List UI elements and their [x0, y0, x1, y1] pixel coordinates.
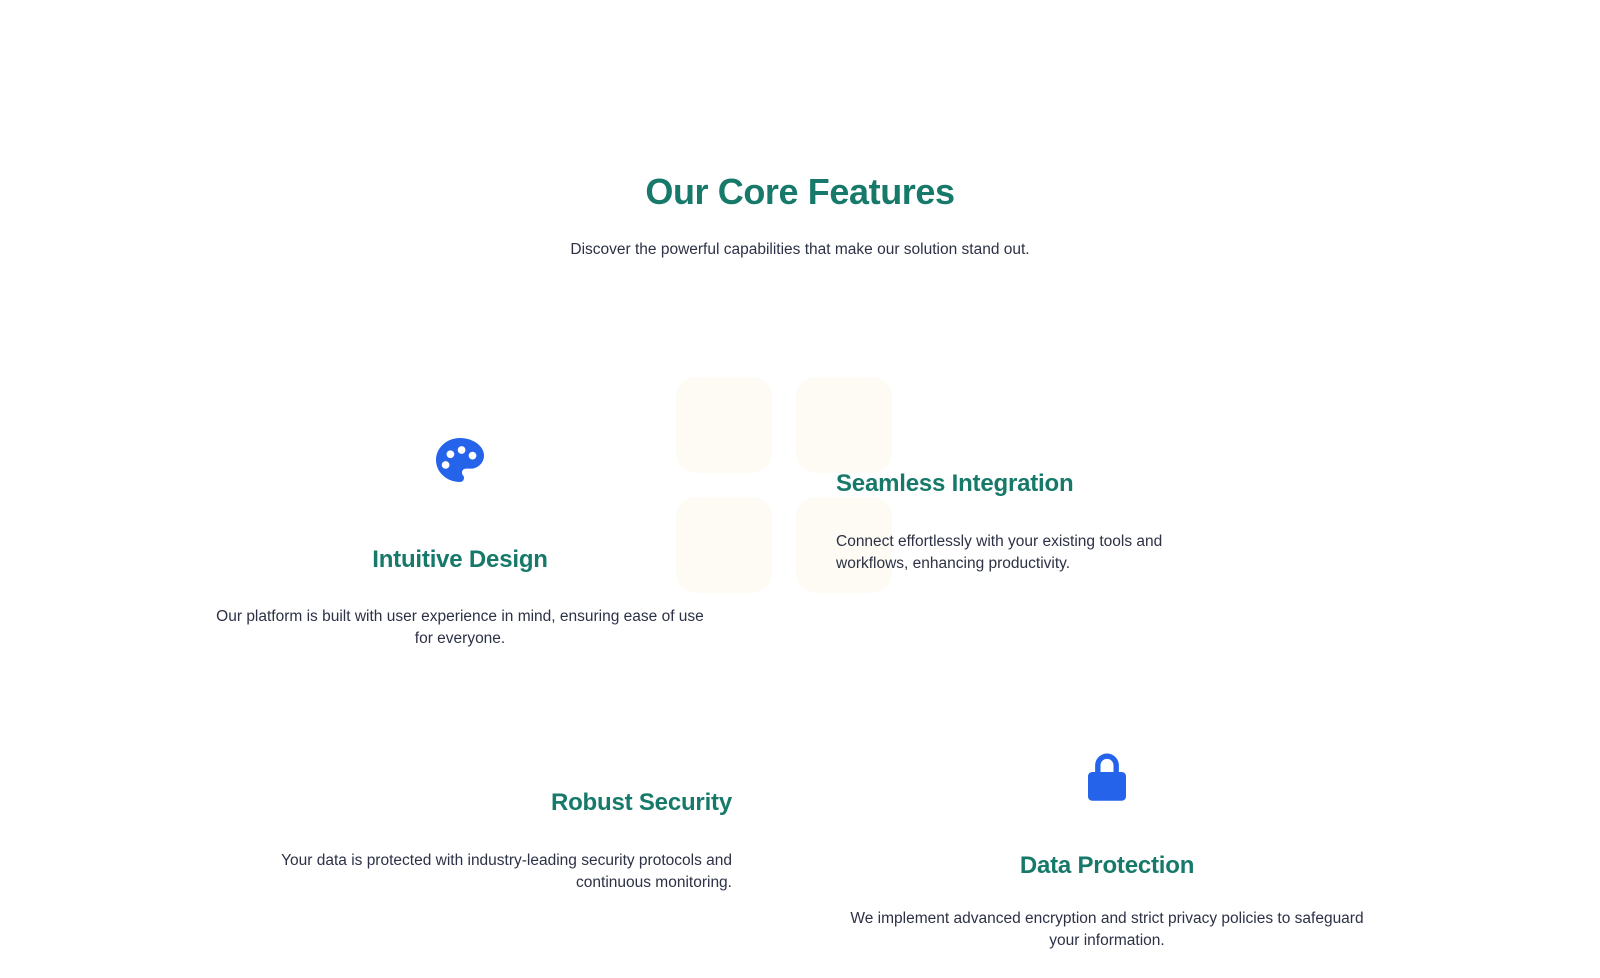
- feature-card-data-protection[interactable]: Data Protection We implement advanced en…: [847, 748, 1367, 952]
- feature-card-robust-security[interactable]: Robust Security Your data is protected w…: [232, 787, 732, 894]
- page-title: Our Core Features: [0, 168, 1600, 216]
- feature-card-description: We implement advanced encryption and str…: [847, 908, 1367, 952]
- feature-card-description: Connect effortlessly with your existing …: [836, 531, 1236, 575]
- palette-icon: [210, 430, 710, 494]
- feature-card-title: Data Protection: [847, 850, 1367, 882]
- feature-card-seamless-integration[interactable]: Seamless Integration Connect effortlessl…: [836, 468, 1236, 575]
- features-section-page: Our Core Features Discover the powerful …: [0, 0, 1600, 978]
- feature-card-description: Our platform is built with user experien…: [210, 606, 710, 650]
- lock-icon: [847, 748, 1367, 808]
- section-header: Our Core Features Discover the powerful …: [0, 0, 1600, 262]
- section-subtitle: Discover the powerful capabilities that …: [0, 238, 1600, 262]
- decorative-square: [796, 377, 892, 473]
- feature-card-title: Intuitive Design: [210, 544, 710, 576]
- feature-card-title: Seamless Integration: [836, 468, 1236, 500]
- feature-card-intuitive-design[interactable]: Intuitive Design Our platform is built w…: [210, 430, 710, 650]
- feature-card-title: Robust Security: [232, 787, 732, 819]
- feature-card-description: Your data is protected with industry-lea…: [232, 850, 732, 894]
